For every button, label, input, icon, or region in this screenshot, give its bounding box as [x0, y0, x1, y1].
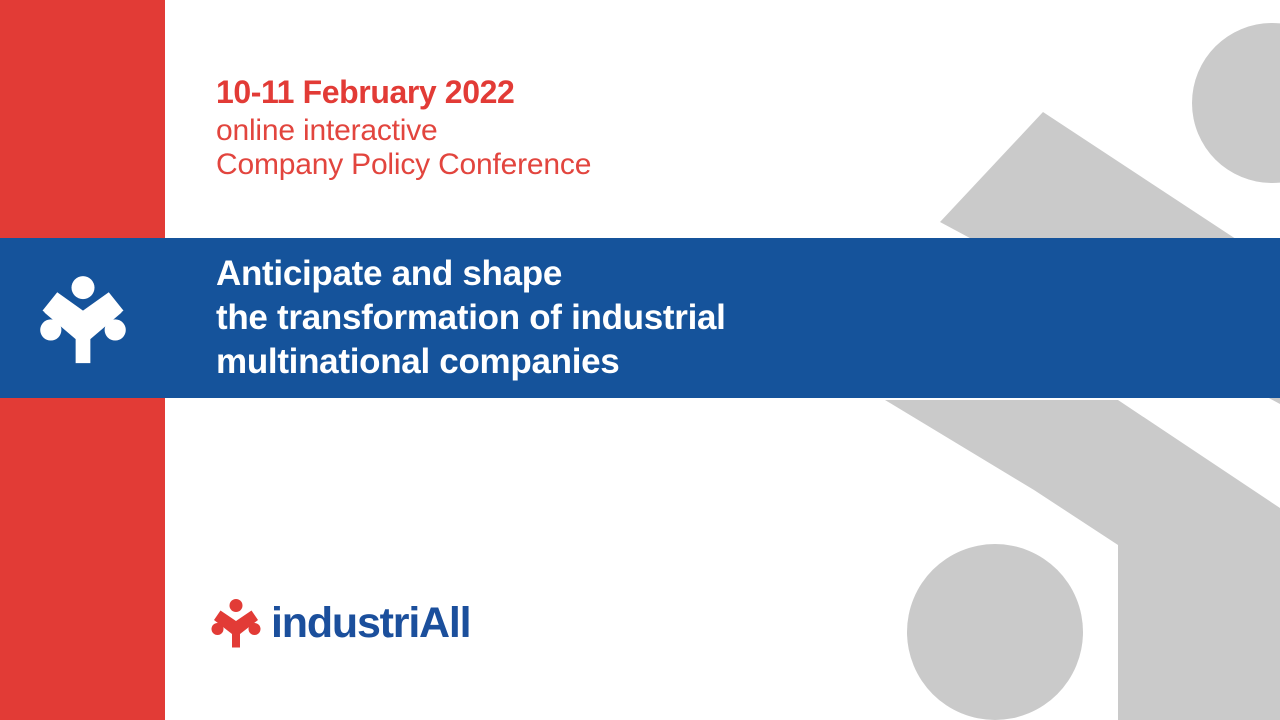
- event-name: Company Policy Conference: [216, 150, 591, 180]
- conference-title-slide: 10-11 February 2022 online interactive C…: [0, 0, 1280, 720]
- banner-logo: [0, 238, 165, 398]
- event-heading: 10-11 February 2022 online interactive C…: [216, 76, 591, 184]
- event-dates: 10-11 February 2022: [216, 76, 591, 108]
- banner-title-line-2: the transformation of industrial: [216, 296, 726, 340]
- banner-title-line-3: multinational companies: [216, 340, 726, 384]
- brand-lockup: industriAll: [211, 598, 470, 648]
- brand-wordmark: industriAll: [271, 602, 470, 645]
- banner-title: Anticipate and shape the transformation …: [216, 252, 726, 384]
- event-mode: online interactive: [216, 116, 591, 146]
- headline-banner: Anticipate and shape the transformation …: [0, 238, 1280, 398]
- industriall-figures-icon: [37, 272, 129, 364]
- lower-angled-band: [885, 400, 1280, 720]
- banner-title-line-1: Anticipate and shape: [216, 252, 726, 296]
- industriall-mark-icon: [211, 598, 261, 648]
- bottom-circle: [907, 544, 1083, 720]
- top-right-circle: [1192, 23, 1280, 183]
